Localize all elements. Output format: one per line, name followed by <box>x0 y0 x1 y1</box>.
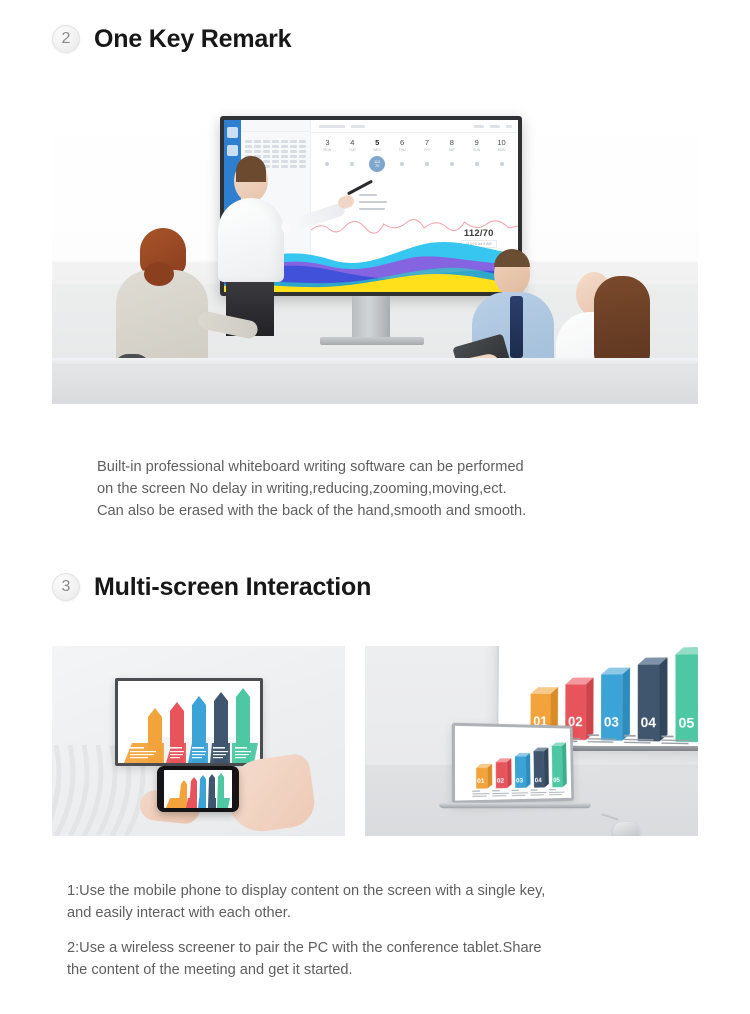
day-marker <box>500 162 504 166</box>
page-root: 2 One Key Remark <box>0 0 750 1014</box>
phone-screen <box>164 770 232 808</box>
svg-text:01: 01 <box>477 778 485 785</box>
day-number: 4 <box>340 139 365 147</box>
day-marker <box>450 162 454 166</box>
section-3-item-1: 1:Use the mobile phone to display conten… <box>67 881 707 924</box>
day-label: MON <box>489 148 514 152</box>
section-number-3: 3 <box>62 578 71 596</box>
day-cell: 8 SAT <box>439 139 464 152</box>
marker-diastolic: 70 <box>375 164 379 168</box>
svg-text:04: 04 <box>535 777 542 784</box>
section-2-paragraph: Built-in professional whiteboard writing… <box>97 456 677 523</box>
display-stand-base <box>320 337 424 345</box>
day-label: THU <box>390 148 415 152</box>
laptop-computer: 010203 0405 <box>453 724 613 832</box>
day-label: SAT <box>439 148 464 152</box>
day-marker <box>325 162 329 166</box>
section-number-badge-2: 2 <box>52 25 80 53</box>
wall-monitor <box>115 678 263 766</box>
day-cell-active: 5 WED <box>365 139 390 152</box>
arrow-bar-chart <box>118 681 260 763</box>
calendar-header <box>241 120 310 132</box>
day-marker <box>350 162 354 166</box>
day-cell: 7 FRI <box>415 139 440 152</box>
day-number: 8 <box>439 139 464 147</box>
meeting-table-edge <box>52 358 698 366</box>
day-marker <box>475 162 479 166</box>
svg-text:03: 03 <box>516 777 523 784</box>
day-label: WED <box>365 148 390 152</box>
wifi-cast-icon <box>364 396 398 404</box>
svg-text:04: 04 <box>641 715 657 731</box>
day-cell: 4 TUE <box>340 139 365 152</box>
dashboard-toolbar <box>311 120 518 133</box>
phone-to-screen-mirroring-photo <box>52 646 345 836</box>
section-title-3: Multi-screen Interaction <box>94 575 371 600</box>
display-stand-column <box>352 296 390 340</box>
day-number: 9 <box>464 139 489 147</box>
laptop-keyboard-base <box>438 803 592 809</box>
pc-to-display-sharing-photo: 01 02 03 04 05 <box>365 646 698 836</box>
day-marker <box>400 162 404 166</box>
day-label: FRI <box>415 148 440 152</box>
svg-text:02: 02 <box>497 778 505 785</box>
day-marker-row: 112 70 <box>311 152 518 172</box>
day-number: 6 <box>390 139 415 147</box>
phone-arrow-bar-chart <box>164 770 232 808</box>
day-strip: 3 MON 4 TUE 5 WED 6 THU <box>311 133 518 152</box>
presenter-person <box>234 160 284 336</box>
conference-room-photo: 3 MON 4 TUE 5 WED 6 THU <box>52 104 698 404</box>
day-number: 7 <box>415 139 440 147</box>
day-cell: 9 SUN <box>464 139 489 152</box>
day-number: 5 <box>365 139 390 147</box>
day-cell: 10 MON <box>489 139 514 152</box>
mobile-phone <box>157 766 239 812</box>
day-cell: 6 THU <box>390 139 415 152</box>
day-label: MON <box>315 148 340 152</box>
day-cell: 3 MON <box>315 139 340 152</box>
day-number: 10 <box>489 139 514 147</box>
section-heading-3: 3 Multi-screen Interaction <box>52 573 371 601</box>
wireless-screener-dongle <box>613 822 639 836</box>
attendee-left-person <box>140 228 208 370</box>
section-3-item-2: 2:Use a wireless screener to pair the PC… <box>67 938 707 981</box>
day-number: 3 <box>315 139 340 147</box>
section-number-2: 2 <box>62 30 71 48</box>
laptop-screen-bar-chart: 010203 0405 <box>455 726 571 801</box>
day-marker <box>425 162 429 166</box>
day-marker-selected: 112 70 <box>369 156 385 172</box>
section-heading-2: 2 One Key Remark <box>52 25 291 53</box>
svg-text:05: 05 <box>553 777 560 784</box>
day-label: TUE <box>340 148 365 152</box>
day-label: SUN <box>464 148 489 152</box>
sidebar-icon-chart <box>227 145 238 156</box>
sidebar-icon-search <box>227 127 238 138</box>
section-title-2: One Key Remark <box>94 27 291 52</box>
section-number-badge-3: 3 <box>52 573 80 601</box>
svg-text:05: 05 <box>679 715 695 731</box>
